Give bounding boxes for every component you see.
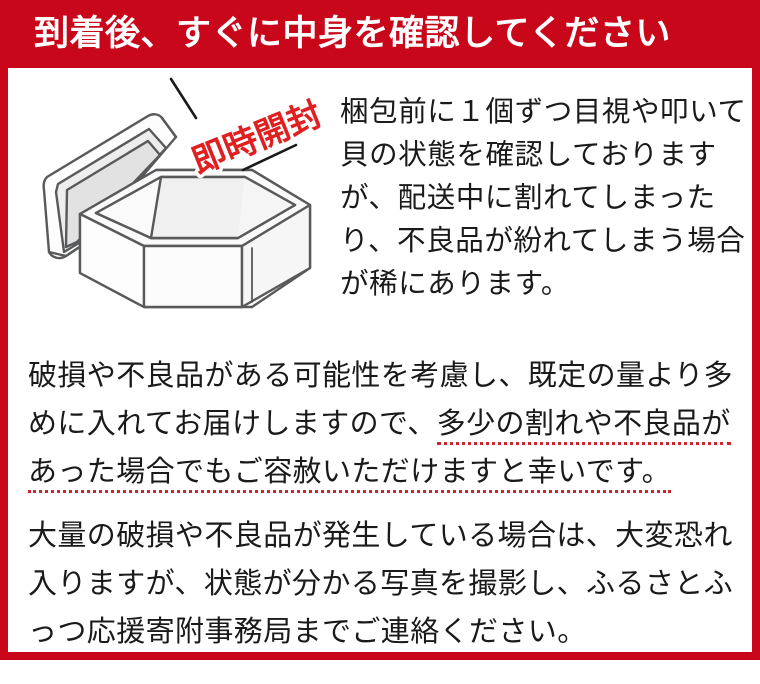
header-banner: 到着後、すぐに中身を確認してください [0,0,760,68]
intro-paragraph: 梱包前に１個ずつ目視や叩いて貝の状態を確認しておりますが、配送中に割れてしまった… [340,90,752,305]
upper-section: 即時開封 即時開封 梱包前に１個ずつ目視や叩いて貝の状態を確認しておりますが、配… [8,68,752,320]
immediate-open-badge: 即時開封 [186,94,327,182]
contact-paragraph: 大量の破損や不良品が発生している場合は、大変恐れ入りますが、状態が分かる写真を撮… [8,511,752,655]
page-title: 到着後、すぐに中身を確認してください [34,17,671,52]
contact-section: 大量の破損や不良品が発生している場合は、大変恐れ入りますが、状態が分かる写真を撮… [8,482,752,684]
styrofoam-box-icon: 即時開封 即時開封 [20,74,340,314]
arrival-notice-card: 到着後、すぐに中身を確認してください [0,0,760,660]
policy-paragraph: 破損や不良品がある可能性を考慮し、既定の量より多めに入れてお届けしますので、多少… [8,351,752,495]
